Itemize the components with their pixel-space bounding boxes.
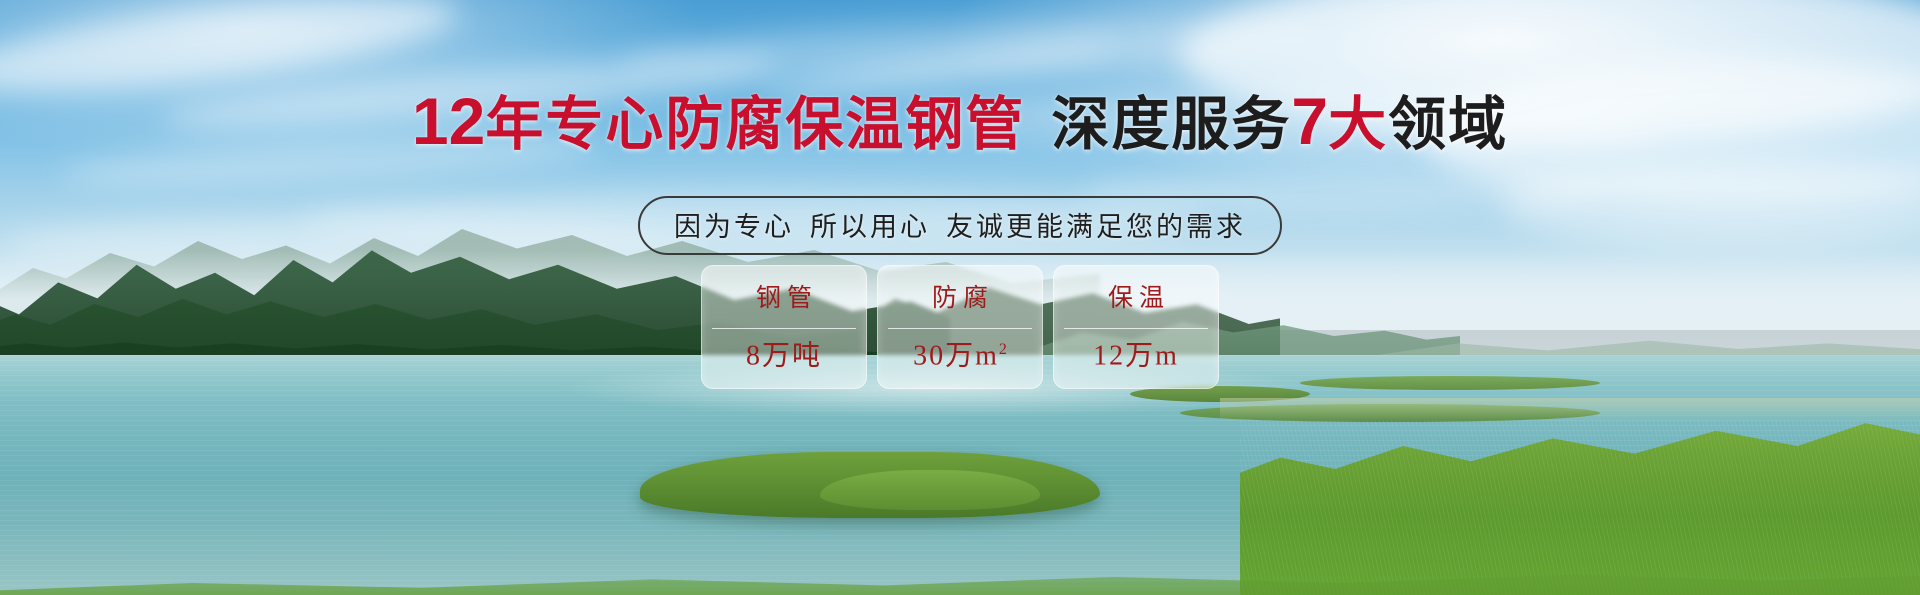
stat-card-label: 保温	[1060, 280, 1212, 318]
stat-card-divider	[712, 328, 856, 329]
subtitle-segment-three: 友诚更能满足您的需求	[946, 212, 1246, 242]
subtitle-segment-two: 所以用心	[810, 212, 930, 242]
headline-years-number: 12	[412, 84, 485, 158]
stat-card-value-text: 30万m	[913, 340, 999, 371]
stat-card-value: 30万m2	[884, 341, 1036, 372]
headline-fields-number: 7	[1291, 84, 1328, 158]
subtitle-pill: 因为专心所以用心友诚更能满足您的需求	[638, 196, 1282, 255]
stat-card-label: 钢管	[708, 280, 860, 318]
stat-card-value: 12万m	[1060, 341, 1212, 372]
banner-headline: 12年专心防腐保温钢管深度服务7大领域	[0, 88, 1920, 154]
shoreline	[1220, 398, 1920, 422]
hero-banner: 12年专心防腐保温钢管深度服务7大领域 因为专心所以用心友诚更能满足您的需求 钢…	[0, 0, 1920, 595]
stat-card-steel-pipe: 钢管 8万吨	[701, 265, 867, 389]
subtitle-container: 因为专心所以用心友诚更能满足您的需求	[0, 196, 1920, 255]
grass-texture	[1240, 420, 1920, 595]
stat-card-anticorrosion: 防腐 30万m2	[877, 265, 1043, 389]
stat-card-divider	[888, 328, 1032, 329]
stat-card-value: 8万吨	[708, 341, 860, 372]
stat-card-label: 防腐	[884, 280, 1036, 318]
subtitle-segment-one: 因为专心	[674, 212, 794, 242]
headline-part-three: 大	[1328, 92, 1388, 157]
headline-part-two: 深度服务	[1051, 92, 1291, 157]
stat-card-value-sup: 2	[999, 341, 1007, 358]
headline-part-four: 领域	[1388, 92, 1508, 157]
stat-card-value-text: 8万吨	[746, 340, 822, 371]
stat-cards-row: 钢管 8万吨 防腐 30万m2 保温 12万m	[0, 265, 1920, 389]
grass-island-secondary	[820, 470, 1040, 510]
headline-part-one: 年专心防腐保温钢管	[485, 92, 1025, 157]
stat-card-divider	[1064, 328, 1208, 329]
stat-card-value-text: 12万m	[1093, 340, 1179, 371]
stat-card-insulation: 保温 12万m	[1053, 265, 1219, 389]
